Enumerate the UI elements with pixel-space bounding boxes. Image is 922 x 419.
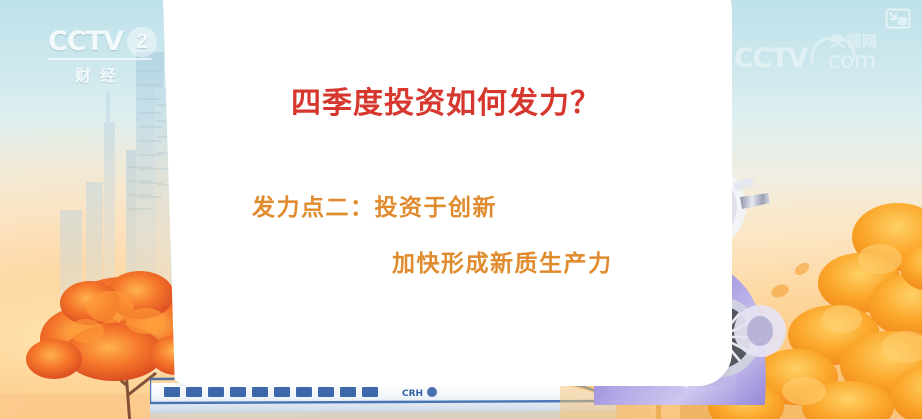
picture-in-picture-icon[interactable] bbox=[885, 8, 911, 29]
watermark-cctv-text: CCTV bbox=[734, 43, 807, 74]
cctv2-logo-rule bbox=[48, 58, 152, 60]
svg-text:CRH: CRH bbox=[402, 389, 423, 399]
cctv2-logo-word: CCTV bbox=[48, 26, 123, 57]
subtitle-line-1: 发力点二：投资于创新 bbox=[252, 188, 497, 222]
page-title: 四季度投资如何发力？ bbox=[160, 78, 732, 122]
cctv2-logo-number: 2 bbox=[127, 27, 157, 57]
broadcast-frame: CRH bbox=[0, 0, 922, 419]
cctv2-logo-subtitle: 财经 bbox=[48, 62, 152, 86]
watermark-com-text: com bbox=[828, 48, 876, 74]
cctv-com-watermark: CCTV 央视网 com bbox=[734, 34, 910, 78]
card-text-block: 四季度投资如何发力？ 发力点二：投资于创新 加快形成新质生产力 bbox=[160, 0, 732, 386]
cctv2-logo: CCTV 2 财经 bbox=[48, 26, 178, 82]
subtitle-line-2: 加快形成新质生产力 bbox=[392, 244, 613, 278]
